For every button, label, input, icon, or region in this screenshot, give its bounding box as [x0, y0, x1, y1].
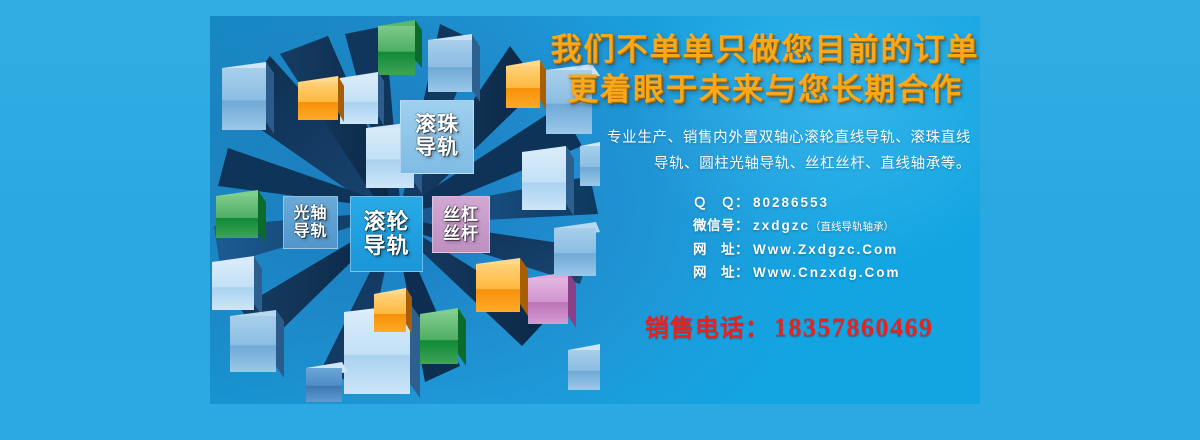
contact-row-website-2: 网 址： Www.Cnzxdg.Com	[693, 261, 980, 284]
contact-label-website-1: 网 址：	[693, 238, 753, 261]
cube-green-top	[378, 20, 422, 75]
contact-value-website-1[interactable]: Www.Zxdgzc.Com	[753, 238, 898, 261]
cube-orange-right	[506, 60, 546, 110]
label-sigang-line2: 丝杆	[443, 225, 479, 243]
cube-blue-top	[428, 34, 480, 102]
contact-note-wechat: （直线导轨轴承）	[810, 218, 894, 236]
headline-line-2: 更着眼于未来与您长期合作	[545, 70, 980, 110]
contact-label-wechat: 微信号：	[693, 214, 753, 237]
cube-blue-bottomcorner	[306, 362, 348, 402]
headline-line-1: 我们不单单只做您目前的订单	[545, 30, 980, 70]
label-gunzhu-line2: 导轨	[415, 137, 459, 160]
cube-green-bottom	[420, 308, 466, 366]
contact-row-wechat: 微信号： zxdgzc （直线导轨轴承）	[693, 214, 980, 237]
label-gunzhu-daogui: 滚珠 导轨	[400, 100, 474, 174]
label-gunzhu-line1: 滚珠	[415, 114, 459, 137]
label-guangzhou-daogui: 光轴 导轨	[283, 196, 338, 249]
label-gunlun-line2: 导轨	[363, 234, 409, 258]
description-text: 专业生产、销售内外置双轴心滚轮直线导轨、滚珠直线导轨、圆柱光轴导轨、丝杠丝杆、直…	[545, 126, 980, 177]
cube-orange-upperleft	[298, 76, 344, 122]
label-guangzhou-line1: 光轴	[293, 205, 327, 222]
contact-value-qq: 80286553	[753, 191, 829, 214]
contact-label-qq: Ｑ Ｑ：	[693, 191, 753, 214]
page-background: 滚珠 导轨 光轴 导轨 滚轮 导轨 丝杠 丝杆 我们不单单只做您目前的订单 更着…	[0, 0, 1200, 440]
cube-paleblue-topleft	[340, 72, 384, 126]
sales-phone-label: 销售电话：	[645, 308, 770, 343]
label-sigang-sigan: 丝杠 丝杆	[432, 196, 490, 253]
contact-list: Ｑ Ｑ： 80286553 微信号： zxdgzc （直线导轨轴承） 网 址： …	[545, 191, 980, 284]
label-gunlun-line1: 滚轮	[363, 210, 409, 234]
contact-value-wechat: zxdgzc	[753, 214, 810, 237]
copy-column: 我们不单单只做您目前的订单 更着眼于未来与您长期合作 专业生产、销售内外置双轴心…	[545, 30, 980, 390]
label-sigang-line1: 丝杠	[443, 206, 479, 224]
label-gunlun-daogui: 滚轮 导轨	[350, 196, 423, 272]
sales-phone: 销售电话： 18357860469	[545, 308, 980, 343]
cube-blue-lowerleft2	[230, 310, 284, 378]
contact-row-qq: Ｑ Ｑ： 80286553	[693, 191, 980, 214]
label-guangzhou-line2: 导轨	[293, 223, 327, 240]
contact-row-website-1: 网 址： Www.Zxdgzc.Com	[693, 238, 980, 261]
contact-label-website-2: 网 址：	[693, 261, 753, 284]
sales-phone-number: 18357860469	[774, 313, 934, 343]
promo-banner: 滚珠 导轨 光轴 导轨 滚轮 导轨 丝杠 丝杆 我们不单单只做您目前的订单 更着…	[210, 16, 980, 404]
contact-value-website-2[interactable]: Www.Cnzxdg.Com	[753, 261, 901, 284]
